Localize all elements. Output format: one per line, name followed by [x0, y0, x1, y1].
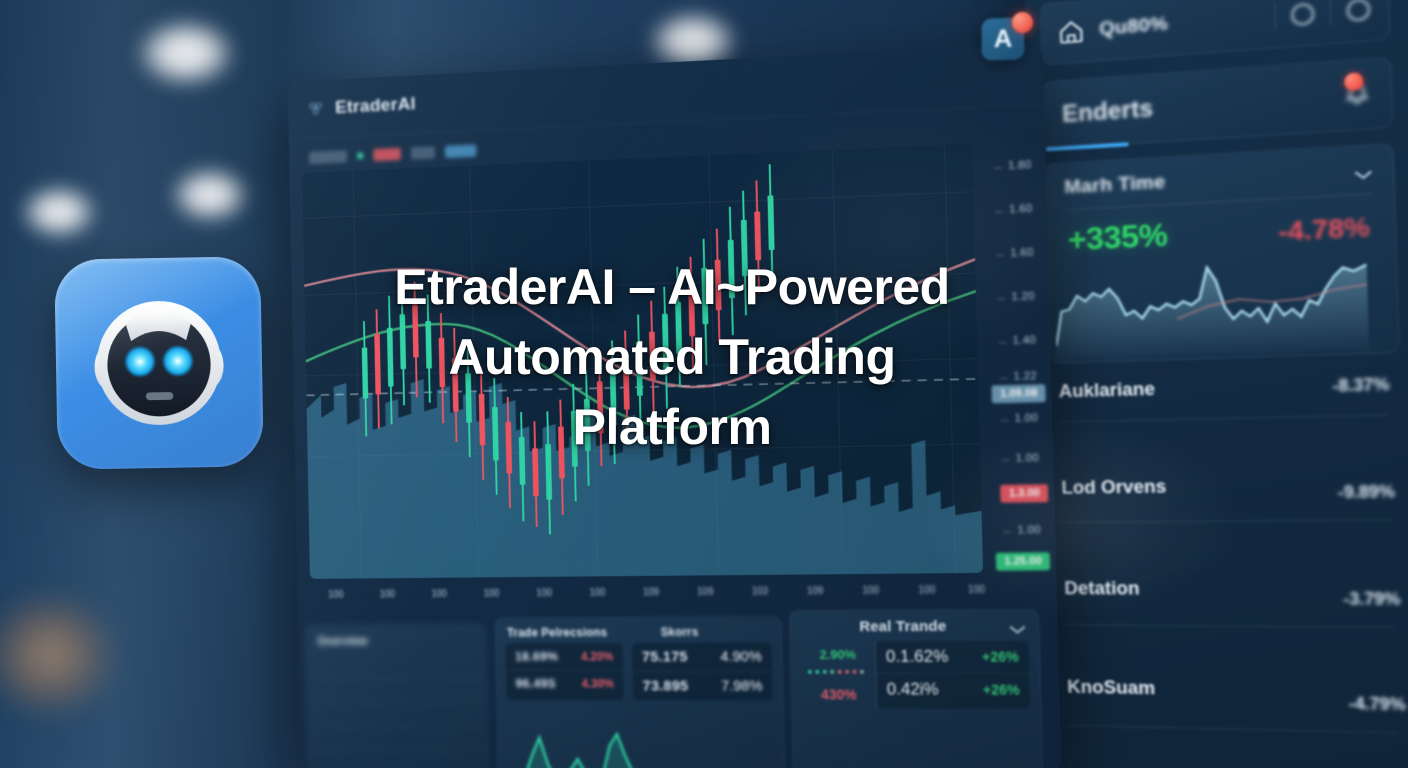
- candle: [492, 393, 499, 483]
- divider: [1060, 520, 1391, 523]
- settings-circle-icon[interactable]: [1291, 2, 1315, 26]
- y-axis-tick: 1.60: [1009, 203, 1033, 216]
- gauge-dots: [806, 667, 871, 677]
- score-change: 7.98%: [721, 678, 763, 695]
- table-row: 0.42i% +26%: [876, 674, 1030, 706]
- x-axis-tick: 100: [589, 588, 605, 599]
- y-axis-tick: 1.00: [1017, 524, 1041, 536]
- table-row: 75.175 4.90%: [632, 642, 772, 672]
- x-axis-tick: 100: [379, 590, 395, 601]
- precision-value: 18.69%: [515, 649, 558, 664]
- x-axis-tick: 100: [536, 588, 552, 599]
- candle: [361, 332, 368, 421]
- toolbar-chip-price[interactable]: [373, 148, 401, 161]
- precision-change: 4.20%: [581, 649, 614, 663]
- brain-logo-icon: [306, 99, 325, 120]
- list-item-value: -4.79%: [1348, 696, 1406, 716]
- precision-value: 96.49S: [515, 676, 556, 690]
- trade-precision-title: Trade Pelrecsions: [507, 626, 607, 640]
- precision-change: 4.30%: [581, 676, 614, 690]
- candle: [478, 378, 485, 464]
- candle: [754, 196, 762, 282]
- dashboard-brand-name: EtraderAI: [335, 94, 416, 119]
- chevron-down-icon[interactable]: [1354, 166, 1373, 178]
- y-axis-tick: 1.40: [1012, 334, 1036, 347]
- list-item[interactable]: Auklariane -8.37%: [1036, 367, 1408, 478]
- y-axis-tick: 1.22: [1013, 370, 1037, 383]
- list-item[interactable]: KnoSuam -4.79%: [1044, 678, 1408, 768]
- chart-toolbar[interactable]: [309, 144, 477, 164]
- candle: [412, 295, 419, 380]
- sidebar-topbar-label: Qu80%: [1099, 13, 1169, 41]
- x-axis-tick: 109: [697, 587, 713, 598]
- toolbar-chip-symbol[interactable]: [309, 150, 347, 164]
- list-item[interactable]: Detation -3.79%: [1041, 578, 1408, 685]
- candlestick-chart[interactable]: [302, 144, 983, 579]
- y-axis-tick: 1.00: [1014, 412, 1038, 424]
- list-item-label: Lod Orvens: [1061, 476, 1166, 498]
- right-sidebar-panel: Qu80% Enderts Marh Time: [1025, 0, 1408, 768]
- market-card-title: Marh Time: [1064, 172, 1166, 200]
- table-row: 0.1.62% +26%: [876, 641, 1030, 674]
- table-row[interactable]: [307, 655, 486, 679]
- candle: [714, 244, 722, 332]
- robot-app-icon[interactable]: [54, 256, 264, 470]
- real-trade-title: Real Trande: [859, 618, 946, 635]
- candle: [387, 311, 395, 413]
- score-change: 4.90%: [720, 648, 762, 665]
- real-trade-value: 0.42i%: [886, 680, 938, 700]
- x-axis-tick: 100: [918, 585, 935, 596]
- gauge-high-value: 2.90%: [801, 647, 875, 662]
- y-axis-tick: 1.60: [1010, 247, 1034, 260]
- robot-head-icon: [72, 276, 247, 451]
- table-row: 73.895 7.98%: [633, 672, 773, 700]
- scores-title: Skorrs: [661, 625, 699, 639]
- ai-notification-dot: [1012, 12, 1033, 33]
- candle: [399, 301, 406, 392]
- x-axis-tick: 100: [484, 589, 500, 600]
- market-overview-card: Marh Time +335% -4.78%: [1044, 143, 1400, 364]
- candle: [425, 310, 432, 390]
- table-row[interactable]: [309, 750, 488, 768]
- toolbar-chip-interval[interactable]: [411, 146, 435, 159]
- gauge-low-value: 430%: [802, 687, 876, 703]
- chart-y-axis: 1.80 1.60 1.60 1.20 1.40 1.22 1.09.08 1.…: [970, 141, 1056, 573]
- list-item-value: -9.89%: [1338, 484, 1396, 503]
- candle: [452, 343, 459, 431]
- candle: [609, 356, 617, 449]
- candle: [571, 399, 579, 490]
- real-trade-change: +26%: [982, 649, 1019, 665]
- divider: [1058, 414, 1388, 422]
- candle: [505, 410, 512, 494]
- candle: [636, 330, 644, 419]
- real-trade-card[interactable]: Real Trande 2.90% 430%: [789, 608, 1044, 768]
- y-axis-tick: 1.20: [1011, 291, 1035, 304]
- candle: [374, 323, 381, 420]
- list-item-label: Auklariane: [1058, 379, 1155, 403]
- score-value: 75.175: [642, 649, 688, 666]
- profile-circle-icon[interactable]: [1346, 0, 1370, 21]
- table-row: 96.49S 4.30%: [506, 670, 624, 696]
- price-badge-sell: 1.3.00: [1001, 484, 1049, 503]
- list-item-value: -8.37%: [1332, 376, 1390, 396]
- y-axis-tick: 1.00: [1015, 452, 1039, 464]
- y-axis-tick: 1.80: [1008, 159, 1032, 172]
- real-trade-value: 0.1.62%: [886, 647, 949, 667]
- watchlist-card-title: Overview: [317, 634, 367, 647]
- sidebar-topbar[interactable]: Qu80%: [1039, 0, 1390, 65]
- candle: [767, 182, 775, 272]
- sidebar-asset-list: Auklariane -8.37% Lod Orvens -9.89% Deta…: [1036, 367, 1408, 768]
- score-value: 73.895: [642, 678, 688, 695]
- home-icon[interactable]: [1057, 18, 1085, 46]
- x-axis-tick: 109: [807, 586, 824, 597]
- candle: [741, 208, 749, 300]
- candle: [532, 437, 539, 516]
- table-row[interactable]: [307, 679, 486, 703]
- candle: [597, 370, 605, 455]
- candle: [623, 344, 631, 431]
- candle: [675, 286, 683, 375]
- candle: [465, 362, 472, 444]
- divider: [1066, 725, 1397, 734]
- x-axis-tick: 100: [968, 585, 985, 596]
- chevron-down-icon[interactable]: [1009, 621, 1027, 631]
- market-sparkline: [1054, 241, 1369, 360]
- list-item-label: Detation: [1064, 578, 1140, 599]
- price-badge-buy: 1.25.00: [996, 552, 1050, 571]
- real-trade-sparkline: [793, 753, 1028, 768]
- ai-badge-letter: A: [994, 24, 1012, 54]
- trading-dashboard-panel: EtraderAI: [288, 43, 1062, 768]
- candle: [584, 384, 592, 473]
- x-axis-tick: 100: [862, 586, 879, 597]
- sidebar-section-header[interactable]: Enderts: [1042, 57, 1393, 150]
- watchlist-card[interactable]: Overview: [305, 623, 489, 768]
- toolbar-chip-indicator[interactable]: [445, 144, 477, 158]
- candle: [701, 256, 709, 349]
- table-row[interactable]: [308, 726, 487, 751]
- real-trade-change: +26%: [983, 682, 1020, 698]
- table-row: 18.69% 4.20%: [505, 643, 623, 670]
- x-axis-tick: 109: [643, 587, 659, 598]
- status-dot-icon: [357, 152, 363, 159]
- x-axis-tick: 100: [431, 589, 447, 600]
- list-item[interactable]: Lod Orvens -9.89%: [1039, 473, 1408, 579]
- candle: [558, 413, 566, 500]
- divider: [1274, 3, 1276, 30]
- x-axis-tick: 103: [752, 587, 769, 598]
- divider: [1329, 0, 1331, 25]
- table-row[interactable]: [308, 703, 487, 727]
- price-badge-current: 1.09.08: [992, 384, 1046, 403]
- candle: [727, 226, 735, 321]
- trade-precision-sparkline: [498, 716, 786, 768]
- x-axis-tick: 100: [328, 590, 343, 601]
- candle-series: [302, 144, 983, 579]
- list-item-label: KnoSuam: [1067, 677, 1156, 700]
- candle: [545, 429, 553, 521]
- divider: [1063, 624, 1394, 628]
- dashboard-header: EtraderAI: [288, 43, 1044, 139]
- list-item-value: -3.79%: [1343, 591, 1401, 610]
- sidebar-section-title: Enderts: [1062, 94, 1154, 127]
- candle: [519, 423, 526, 506]
- candle: [688, 272, 696, 358]
- candle: [649, 318, 657, 401]
- candle: [662, 302, 670, 393]
- candle: [438, 324, 445, 408]
- trade-precision-card[interactable]: Trade Pelrecsions Skorrs 18.69% 4.20% 96…: [495, 616, 786, 768]
